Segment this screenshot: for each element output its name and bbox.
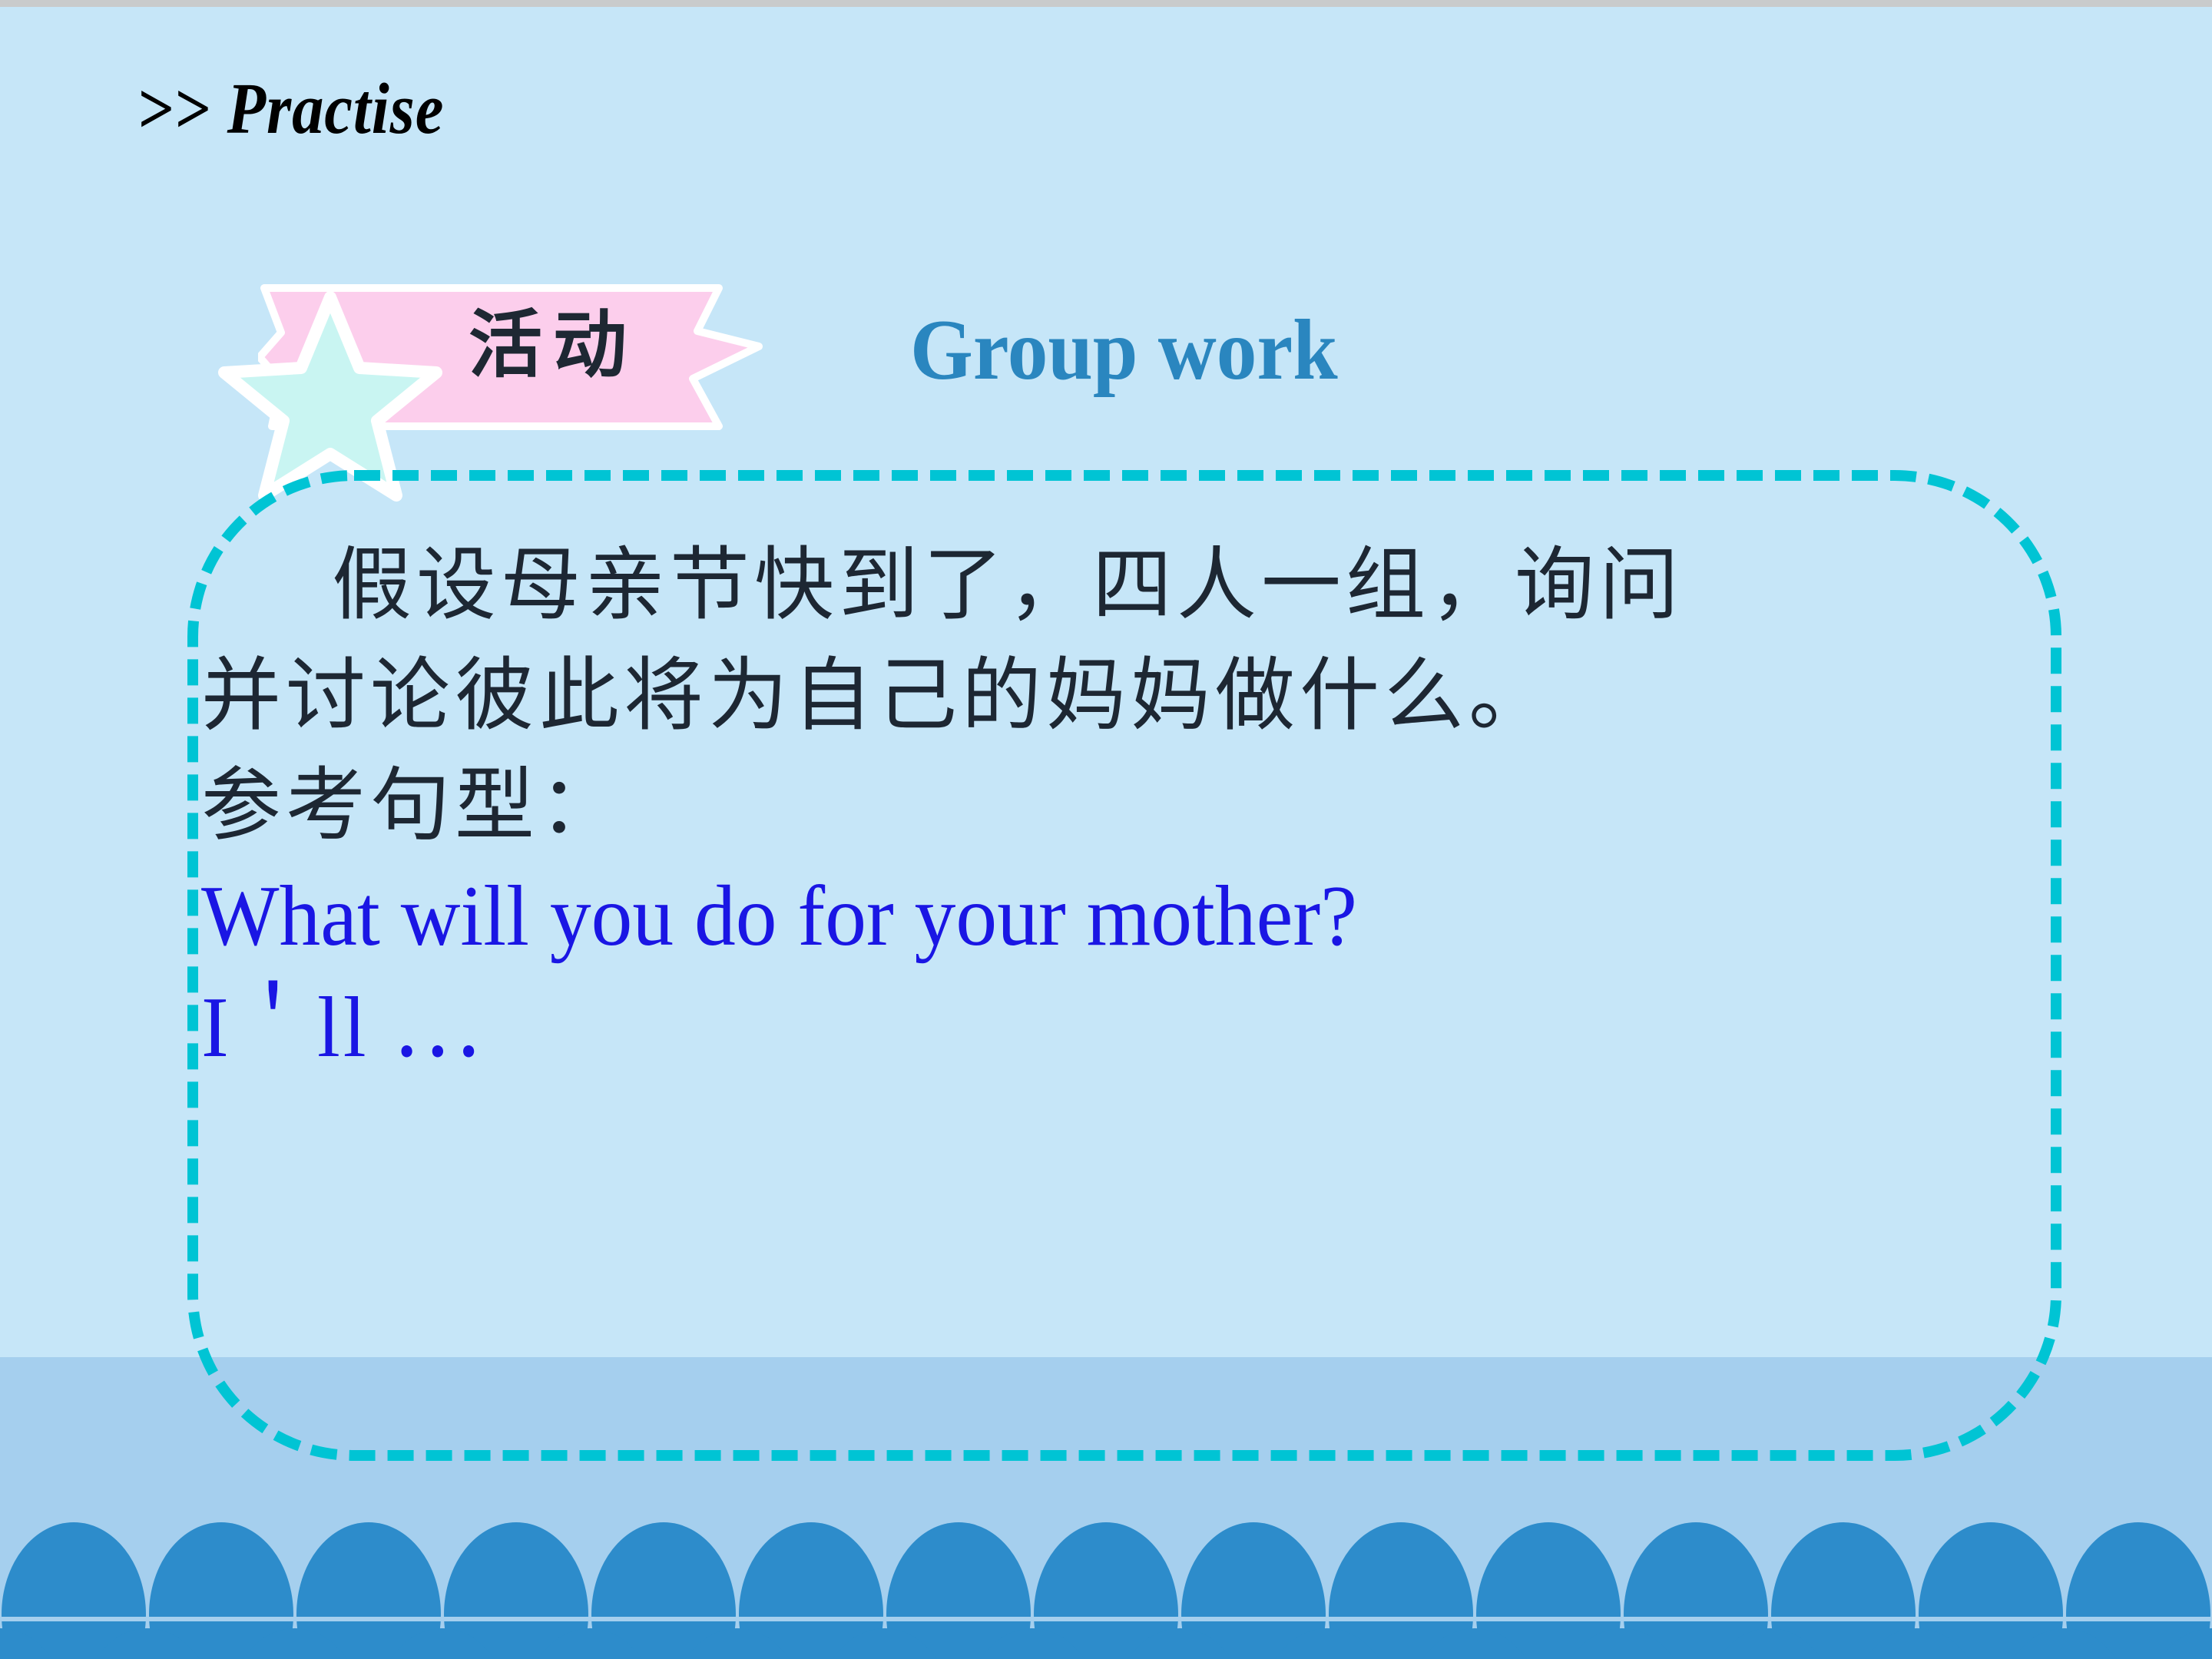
- slide-canvas: >> Practise 活动 Group work 假设母亲节快到了，四人一组，…: [0, 0, 2212, 1659]
- task-line-3: 参考句型：: [201, 750, 2048, 861]
- task-instruction-box: 假设母亲节快到了，四人一组，询问 并讨论彼此将为自己的妈妈做什么。 参考句型： …: [187, 470, 2061, 1461]
- task-line-4-example-question: What will you do for your mother?: [201, 861, 1974, 973]
- activity-type-label: Group work: [910, 307, 1338, 393]
- task-line-1: 假设母亲节快到了，四人一组，询问: [201, 530, 2048, 641]
- activity-badge-label: 活动: [438, 305, 668, 386]
- top-edge-strip: [0, 0, 2212, 7]
- activity-badge: 活动: [215, 265, 783, 472]
- bottom-scallop-decoration: [0, 1482, 2212, 1659]
- task-line-5-example-answer: I＇ll ⋯: [201, 972, 1974, 1084]
- task-line-2: 并讨论彼此将为自己的妈妈做什么。: [201, 641, 2048, 751]
- page-title: >> Practise: [137, 73, 444, 145]
- task-text-block: 假设母亲节快到了，四人一组，询问 并讨论彼此将为自己的妈妈做什么。 参考句型： …: [187, 530, 2061, 1084]
